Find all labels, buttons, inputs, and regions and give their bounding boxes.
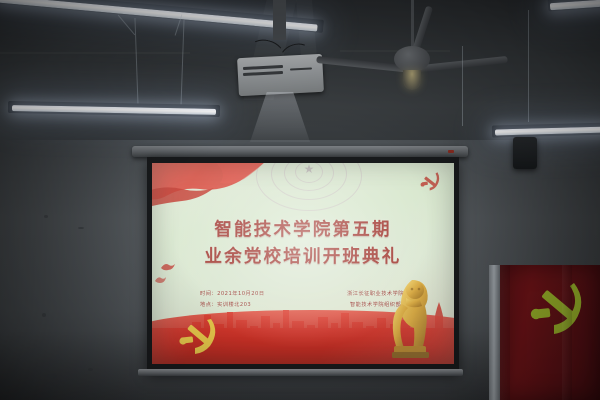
- ceiling-wire: [462, 46, 463, 126]
- presentation-slide: ★ 智能技术学院第五期 业余党校培训开班典礼: [152, 163, 454, 364]
- flying-dove: [154, 275, 167, 284]
- golden-lion-statue: [382, 276, 440, 362]
- wall-speaker: [513, 137, 537, 169]
- flag-pole-sleeve: [489, 265, 500, 400]
- projector-screen-weight-bar: [138, 369, 463, 376]
- ceiling-seam: [340, 50, 450, 52]
- flag-fold: [500, 265, 510, 400]
- projector-screen-roller[interactable]: [132, 146, 468, 157]
- wall-mark: [88, 368, 93, 371]
- fan-light: [403, 70, 421, 90]
- wall-mark: [47, 374, 57, 378]
- ceiling-seam: [0, 52, 190, 54]
- slide-title-line-2: 业余党校培训开班典礼: [152, 244, 454, 271]
- wall-mark: [44, 215, 48, 218]
- light-hanger: [528, 10, 529, 122]
- slide-title-line-1: 智能技术学院第五期: [152, 217, 454, 244]
- fan-hub: [394, 46, 430, 72]
- hammer-sickle-emblem: [178, 316, 222, 358]
- hammer-and-sickle-icon: [530, 279, 592, 341]
- classroom-scene: ★ 智能技术学院第五期 业余党校培训开班典礼: [0, 0, 600, 400]
- flag-cloth: [500, 265, 600, 400]
- cpc-party-flag: [489, 265, 600, 400]
- party-emblem-small: [418, 169, 444, 195]
- flag-fold: [562, 265, 572, 400]
- red-flag-drape: [152, 163, 298, 213]
- fan-mount-rod: [411, 0, 414, 48]
- wall-mark: [42, 313, 46, 317]
- projector-mount-arm: [273, 0, 286, 40]
- slide-title-block: 智能技术学院第五期 业余党校培训开班典礼: [152, 217, 454, 270]
- slide-bottom-scene: [152, 302, 454, 364]
- wall-mark: [78, 227, 84, 229]
- roller-indicator: [448, 150, 454, 153]
- event-datetime: 时间：2021年10月20日: [200, 289, 265, 300]
